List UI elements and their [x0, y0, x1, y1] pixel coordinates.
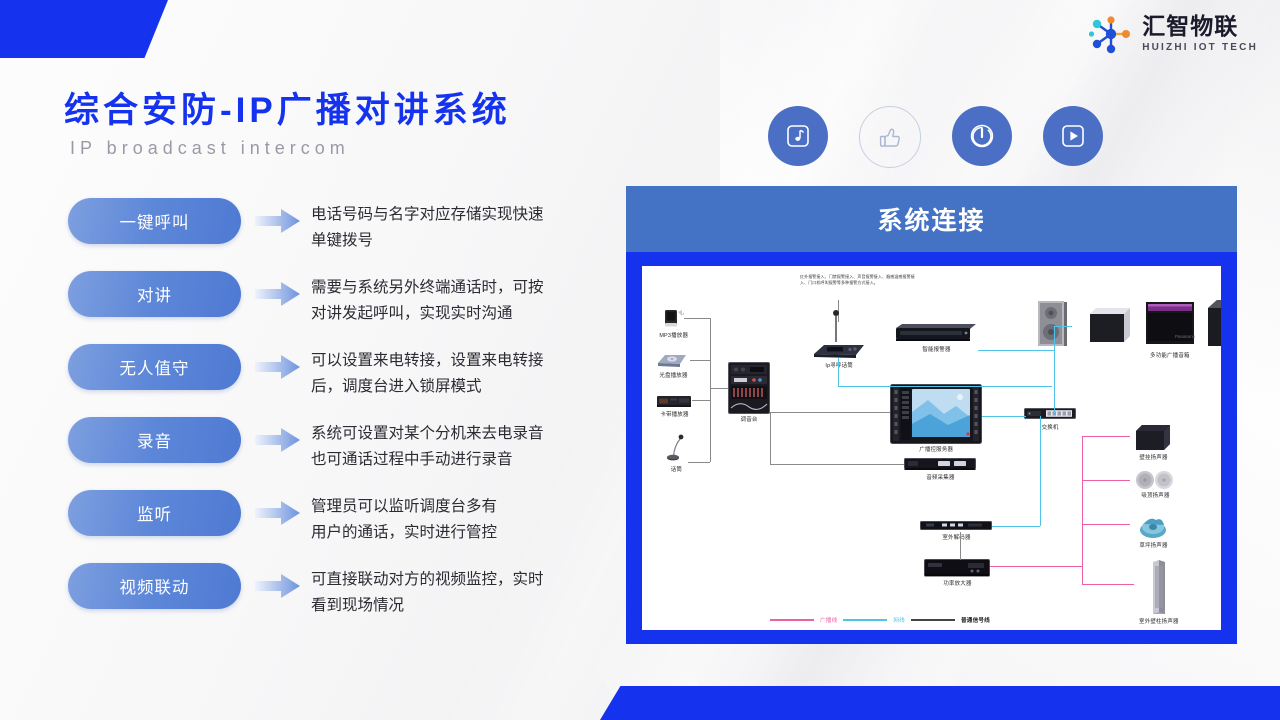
- bc-to-lawn: [1082, 524, 1130, 525]
- arrow-right-icon: [255, 427, 301, 453]
- node-multi-speaker-2: [1088, 306, 1132, 346]
- net-switch-to-decoder: [992, 526, 1040, 527]
- node-label: 草坪扬声器: [1139, 542, 1167, 549]
- node-switch: 交换机: [1024, 406, 1076, 431]
- top-left-accent-shape: [0, 0, 168, 58]
- page-subtitle: IP broadcast intercom: [70, 138, 350, 159]
- subwoofer-icon: [1205, 298, 1221, 348]
- smart-alarm-icon: [894, 322, 978, 344]
- net-alarm-h: [978, 350, 1054, 351]
- audio-collector-icon: [904, 456, 976, 472]
- diagram-legend: 广播线 网线 普通信号线: [770, 616, 990, 624]
- cd-player-icon: [656, 350, 690, 370]
- wire-collector-to-mixer: [770, 464, 904, 465]
- mp3-player-icon: ♪: [662, 308, 686, 330]
- node-multi-speaker-3: Panasonic 多功能广播音箱: [1145, 300, 1195, 359]
- feature-row: 无人值守 可以设置来电转接，设置来电转接 后，调度台进入锁屏模式: [68, 344, 628, 417]
- feature-label: 无人值守: [120, 355, 190, 379]
- node-label: 调音台: [741, 416, 758, 423]
- arrow-right-icon: [255, 208, 301, 234]
- node-label: 室外解码器: [942, 534, 970, 541]
- diagram-annotation: 红外报警接入、门禁报警接入、声音报警接入、烟感温感报警接入、门口机呼叫报警等多种…: [800, 274, 920, 286]
- feature-pill-5[interactable]: 视频联动: [68, 563, 241, 609]
- bc-to-outdoor: [1082, 584, 1134, 585]
- node-label: 智能报警器: [922, 346, 950, 353]
- lawn-speaker-icon: [1136, 514, 1170, 540]
- node-outdoor-speaker: 室外壁柱扬声器: [1140, 560, 1178, 625]
- feature-description: 需要与系统另外终端通话时，可按 对讲发起呼叫，实现实时沟通: [311, 275, 544, 327]
- bc-to-wall: [1082, 436, 1130, 437]
- ceiling-speaker-icon: [1134, 470, 1176, 490]
- page-title: 综合安防-IP广播对讲系统: [64, 82, 511, 133]
- bc-amp-out: [990, 566, 1082, 567]
- feature-row: 视频联动 可直接联动对方的视频监控，实时 看到现场情况: [68, 563, 628, 636]
- feature-pill-0[interactable]: 一键呼叫: [68, 198, 241, 244]
- system-topology-diagram: 红外报警接入、门禁报警接入、声音报警接入、烟感温感报警接入、门口机呼叫报警等多种…: [642, 266, 1221, 630]
- wall-speaker-panel-icon: [1088, 306, 1132, 346]
- wire-tape: [692, 400, 710, 401]
- node-cd: 光盘播放器: [656, 350, 690, 379]
- node-collector: 音频采集器: [904, 456, 976, 481]
- node-label: 光盘播放器: [659, 372, 687, 379]
- node-server: 广播控服务器: [890, 384, 982, 453]
- node-multi-speaker-1: [1036, 300, 1068, 348]
- speaker-box-icon: [1036, 300, 1068, 348]
- arrow-right-icon: [255, 281, 301, 307]
- net-ipmic-h: [838, 386, 1052, 387]
- node-label: 壁挂扬声器: [1139, 454, 1167, 461]
- node-label: MP3播放器: [659, 332, 688, 339]
- feature-label: 监听: [137, 501, 172, 525]
- feature-line: 需要与系统另外终端通话时，可按: [311, 275, 544, 301]
- wire-mp3: [684, 318, 710, 319]
- feature-description: 可以设置来电转接，设置来电转接 后，调度台进入锁屏模式: [311, 348, 544, 400]
- feature-label: 一键呼叫: [120, 209, 190, 233]
- node-label: 吸顶扬声器: [1141, 492, 1169, 499]
- feature-pill-2[interactable]: 无人值守: [68, 344, 241, 390]
- thumbs-up-icon-button[interactable]: [859, 106, 921, 168]
- tape-player-icon: [656, 392, 692, 409]
- feature-label: 视频联动: [120, 574, 190, 598]
- brand-name-en: HUIZHI IOT TECH: [1142, 43, 1258, 53]
- legend-swatch-broadcast: [770, 619, 814, 621]
- feature-row: 一键呼叫 电话号码与名字对应存储实现快速 单键拨号: [68, 198, 628, 271]
- wire-bus-to-mixer: [710, 388, 728, 389]
- wall-mount-speaker-icon: [1134, 424, 1172, 452]
- legend-label-broadcast: 广播线: [820, 616, 837, 624]
- molecule-network-icon: [1089, 14, 1133, 54]
- wire-mixer-to-server: [770, 412, 890, 413]
- node-label: 音频采集器: [926, 474, 954, 481]
- feature-line: 看到现场情况: [311, 593, 544, 619]
- feature-description: 系统可设置对某个分机来去电录音 也可通话过程中手动进行录音: [311, 421, 544, 473]
- node-label: Ip寻呼话筒: [825, 362, 853, 369]
- feature-line: 电话号码与名字对应存储实现快速: [311, 202, 544, 228]
- feature-row: 录音 系统可设置对某个分机来去电录音 也可通话过程中手动进行录音: [68, 417, 628, 490]
- amplifier-speaker-icon: Panasonic: [1145, 300, 1195, 346]
- node-label: 广播控服务器: [919, 446, 953, 453]
- node-mic: 话筒: [664, 434, 688, 473]
- net-spk-to-speaker: [1054, 326, 1072, 327]
- feature-line: 可以设置来电转接，设置来电转接: [311, 348, 544, 374]
- wire-mixer-v: [770, 412, 771, 464]
- feature-line: 管理员可以监听调度台多有: [311, 494, 497, 520]
- feature-label: 对讲: [137, 282, 172, 306]
- audio-mixer-icon: [728, 362, 770, 414]
- wire-cd: [690, 360, 710, 361]
- bottom-right-accent-shape: [600, 686, 1280, 720]
- feature-line: 可直接联动对方的视频监控，实时: [311, 567, 544, 593]
- network-switch-icon: [1024, 406, 1076, 422]
- microphone-icon: [664, 434, 688, 464]
- node-label: 功率放大器: [943, 580, 971, 587]
- arrow-right-icon: [255, 354, 301, 380]
- node-label: 多功能广播音箱: [1150, 352, 1190, 359]
- feature-label: 录音: [137, 428, 172, 452]
- legend-label-network: 网线: [893, 616, 905, 624]
- wire-left-bus: [710, 318, 711, 462]
- node-label: 话筒: [670, 466, 681, 473]
- node-label: 交换机: [1042, 424, 1059, 431]
- feature-pill-3[interactable]: 录音: [68, 417, 241, 463]
- feature-description: 管理员可以监听调度台多有 用户的通话，实时进行管控: [311, 494, 497, 546]
- feature-line: 单键拨号: [311, 228, 544, 254]
- net-to-switch-v: [1054, 350, 1055, 414]
- feature-row: 监听 管理员可以监听调度台多有 用户的通话，实时进行管控: [68, 490, 628, 563]
- node-ip-mic: Ip寻呼话筒: [810, 310, 868, 369]
- power-icon-button[interactable]: [952, 106, 1012, 166]
- feature-description: 可直接联动对方的视频监控，实时 看到现场情况: [311, 567, 544, 619]
- feature-line: 对讲发起呼叫，实现实时沟通: [311, 301, 544, 327]
- bc-bus: [1082, 436, 1083, 584]
- node-mp3: ♪ MP3播放器: [660, 308, 687, 339]
- feature-row: 对讲 需要与系统另外终端通话时，可按 对讲发起呼叫，实现实时沟通: [68, 271, 628, 344]
- wire-decoder-to-amp: [960, 532, 961, 560]
- feature-line: 用户的通话，实时进行管控: [311, 520, 497, 546]
- panel-frame: 红外报警接入、门禁报警接入、声音报警接入、烟感温感报警接入、门口机呼叫报警等多种…: [626, 252, 1237, 644]
- arrow-right-icon: [255, 500, 301, 526]
- feature-pill-4[interactable]: 监听: [68, 490, 241, 536]
- wire-mic: [688, 462, 710, 463]
- play-icon-button[interactable]: [1043, 106, 1103, 166]
- panel-title: 系统连接: [877, 201, 985, 237]
- arrow-right-icon: [255, 573, 301, 599]
- legend-label-signal: 普通信号线: [961, 616, 990, 624]
- net-server-to-switch: [982, 416, 1026, 417]
- node-label: 卡带播放器: [660, 411, 688, 418]
- brand-logo: 汇智物联 HUIZHI IOT TECH: [1089, 14, 1258, 54]
- panel-header: 系统连接: [626, 186, 1237, 252]
- node-alarm: 智能报警器: [894, 322, 978, 353]
- node-ceiling-speaker: 吸顶扬声器: [1134, 470, 1176, 499]
- net-switch-down: [1040, 416, 1041, 526]
- node-label: 室外壁柱扬声器: [1139, 618, 1179, 625]
- feature-line: 也可通话过程中手动进行录音: [311, 447, 544, 473]
- icon-button-row: [768, 106, 1103, 168]
- feature-description: 电话号码与名字对应存储实现快速 单键拨号: [311, 202, 544, 254]
- legend-swatch-signal: [911, 619, 955, 621]
- svg-text:♪: ♪: [682, 311, 684, 316]
- node-mixer: 调音台: [728, 362, 770, 423]
- node-amp: 功率放大器: [924, 558, 990, 587]
- legend-swatch-network: [843, 619, 887, 621]
- feature-line: 后，调度台进入锁屏模式: [311, 374, 544, 400]
- node-lawn-speaker: 草坪扬声器: [1136, 514, 1170, 549]
- node-decoder: 室外解码器: [920, 520, 992, 541]
- outdoor-column-speaker-icon: [1147, 560, 1171, 616]
- system-connection-panel: 系统连接 红外报警接入、门禁报警接入、声音报警接入、烟感温感报警接入、门口机呼叫…: [626, 186, 1237, 644]
- feature-list: 一键呼叫 电话号码与名字对应存储实现快速 单键拨号 对讲: [68, 198, 628, 636]
- feature-line: 系统可设置对某个分机来去电录音: [311, 421, 544, 447]
- bc-to-ceiling: [1082, 480, 1130, 481]
- net-ipmic-v: [838, 358, 839, 386]
- node-multi-speaker-4: [1205, 298, 1221, 348]
- feature-pill-1[interactable]: 对讲: [68, 271, 241, 317]
- power-amplifier-icon: [924, 558, 990, 578]
- node-tape: 卡带播放器: [656, 392, 692, 418]
- net-spk-v: [1054, 326, 1055, 350]
- outdoor-decoder-icon: [920, 520, 992, 532]
- svg-text:Panasonic: Panasonic: [1175, 334, 1195, 339]
- brand-name-cn: 汇智物联: [1142, 15, 1258, 38]
- music-note-icon-button[interactable]: [768, 106, 828, 166]
- broadcast-server-icon: [890, 384, 982, 444]
- node-wall-speaker: 壁挂扬声器: [1134, 424, 1172, 461]
- ip-paging-microphone-icon: [810, 310, 868, 360]
